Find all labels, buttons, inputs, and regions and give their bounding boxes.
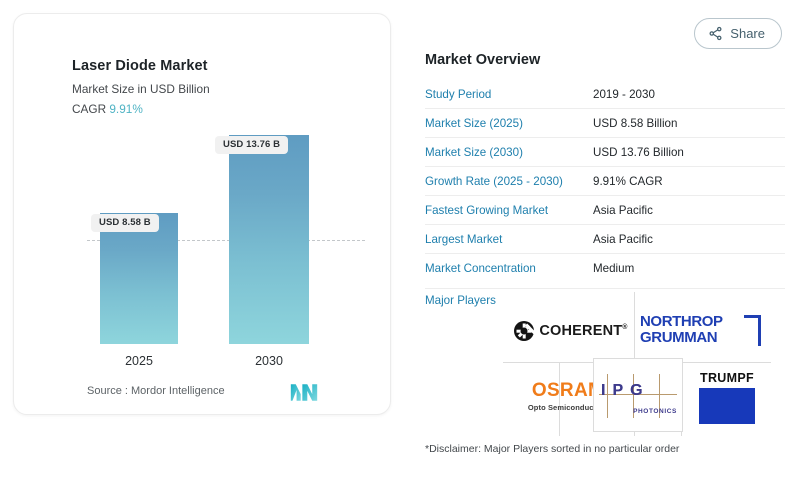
mordor-intelligence-logo [290, 383, 318, 402]
row-label: Fastest Growing Market [425, 204, 593, 217]
northrop-bracket-icon [744, 315, 761, 346]
bar-chart-plot: USD 8.58 B USD 13.76 B 2025 2030 [27, 114, 379, 372]
x-axis-label-2030: 2030 [229, 354, 309, 368]
overview-title: Market Overview [425, 52, 540, 68]
table-row: Study Period 2019 - 2030 [425, 80, 785, 109]
disclaimer-text: *Disclaimer: Major Players sorted in no … [425, 443, 679, 455]
players-divider [425, 288, 785, 289]
northrop-line-1: NORTHROP [640, 314, 760, 330]
table-row: Largest Market Asia Pacific [425, 225, 785, 254]
row-value: USD 8.58 Billion [593, 117, 677, 130]
row-label: Growth Rate (2025 - 2030) [425, 175, 593, 188]
ipg-wordmark: IPG [601, 382, 650, 400]
row-value: Asia Pacific [593, 233, 653, 246]
player-logo-ipg-photonics: IPG PHOTONICS [593, 358, 683, 432]
bar-label-2025: USD 8.58 B [91, 214, 159, 232]
table-row: Market Size (2030) USD 13.76 Billion [425, 138, 785, 167]
row-value: 9.91% CAGR [593, 175, 663, 188]
table-row: Fastest Growing Market Asia Pacific [425, 196, 785, 225]
chart-subtitle: Market Size in USD Billion [72, 82, 210, 96]
bar-2030[interactable] [229, 135, 309, 344]
coherent-wordmark: COHERENT® [539, 323, 627, 339]
market-overview-page: Laser Diode Market Market Size in USD Bi… [0, 0, 800, 482]
ipg-subtitle: PHOTONICS [633, 408, 677, 415]
chart-card: Laser Diode Market Market Size in USD Bi… [13, 13, 391, 415]
row-label: Largest Market [425, 233, 593, 246]
row-label: Market Concentration [425, 262, 593, 275]
table-row: Market Concentration Medium [425, 254, 785, 283]
major-players-logo-grid: COHERENT® NORTHROP GRUMMAN OSRAM Opto Se… [503, 300, 771, 436]
x-axis-label-2025: 2025 [100, 354, 178, 368]
table-row: Growth Rate (2025 - 2030) 9.91% CAGR [425, 167, 785, 196]
row-label: Market Size (2030) [425, 146, 593, 159]
share-button[interactable]: Share [694, 18, 782, 49]
share-button-label: Share [730, 26, 765, 41]
row-value: 2019 - 2030 [593, 88, 655, 101]
row-value: Asia Pacific [593, 204, 653, 217]
share-nodes-icon [708, 26, 723, 41]
player-logo-trumpf: TRUMPF [685, 366, 769, 428]
bar-2025[interactable] [100, 213, 178, 344]
row-value: Medium [593, 262, 634, 275]
chart-title: Laser Diode Market [72, 58, 208, 74]
northrop-line-2: GRUMMAN [640, 330, 760, 346]
table-row: Market Size (2025) USD 8.58 Billion [425, 109, 785, 138]
source-text: Source : Mordor Intelligence [87, 385, 225, 397]
overview-table: Study Period 2019 - 2030 Market Size (20… [425, 80, 785, 283]
trumpf-square-icon [699, 388, 755, 424]
player-logo-northrop-grumman: NORTHROP GRUMMAN [637, 304, 763, 356]
row-label: Market Size (2025) [425, 117, 593, 130]
major-players-label: Major Players [425, 294, 496, 307]
coherent-starburst-icon [514, 321, 534, 341]
bar-label-2030: USD 13.76 B [215, 136, 288, 154]
trumpf-wordmark: TRUMPF [700, 371, 754, 385]
row-value: USD 13.76 Billion [593, 146, 684, 159]
player-logo-coherent: COHERENT® [509, 308, 633, 354]
row-label: Study Period [425, 88, 593, 101]
